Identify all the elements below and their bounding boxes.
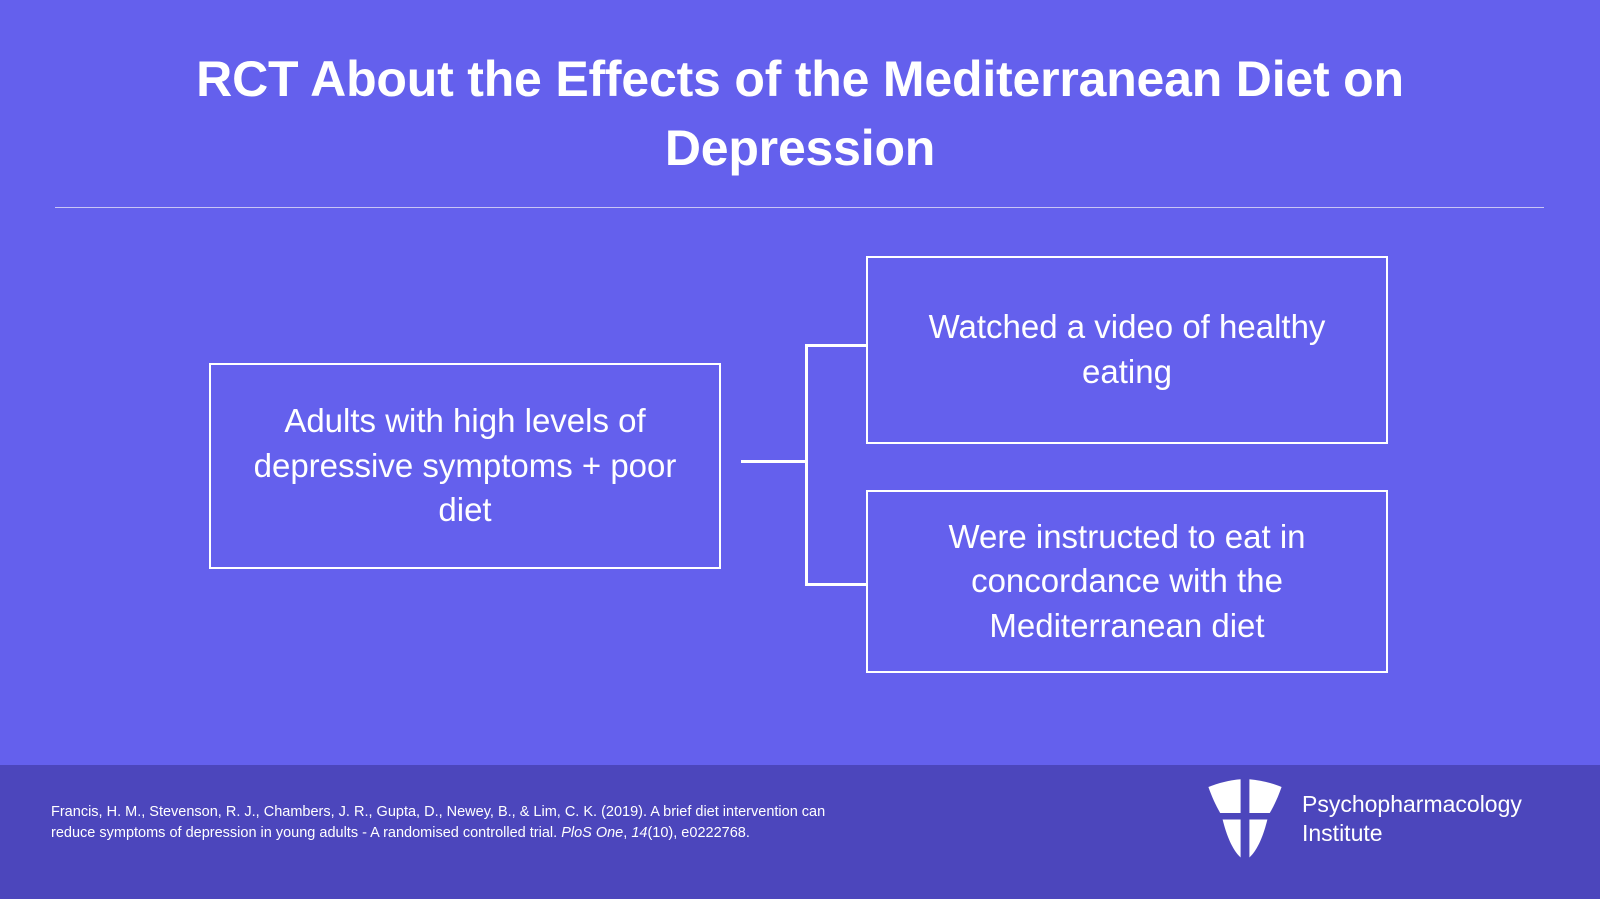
flow-node-source: Adults with high levels of depressive sy…	[209, 363, 721, 569]
brand-logo: Psychopharmacology Institute	[1205, 776, 1550, 862]
connector-arm-bottom	[805, 583, 867, 586]
citation-reference: Francis, H. M., Stevenson, R. J., Chambe…	[51, 802, 841, 843]
flow-node-branch-intervention-label: Were instructed to eat in concordance wi…	[882, 515, 1372, 649]
connector-spine	[805, 344, 808, 586]
page-title: RCT About the Effects of the Mediterrane…	[140, 45, 1460, 183]
brand-name: Psychopharmacology Institute	[1302, 790, 1522, 847]
citation-text-part2: (10), e0222768.	[647, 825, 749, 841]
flow-node-branch-control: Watched a video of healthy eating	[866, 256, 1388, 444]
connector-arm-top	[805, 344, 867, 347]
connector-stub	[741, 460, 807, 463]
shield-logo-icon	[1205, 777, 1285, 861]
flow-node-branch-control-label: Watched a video of healthy eating	[882, 305, 1372, 394]
title-divider	[55, 207, 1544, 208]
flow-node-source-label: Adults with high levels of depressive sy…	[225, 399, 705, 533]
slide-canvas: RCT About the Effects of the Mediterrane…	[0, 0, 1600, 899]
citation-journal: PloS One	[561, 825, 623, 841]
flow-node-branch-intervention: Were instructed to eat in concordance wi…	[866, 490, 1388, 673]
citation-volume: 14	[631, 825, 647, 841]
